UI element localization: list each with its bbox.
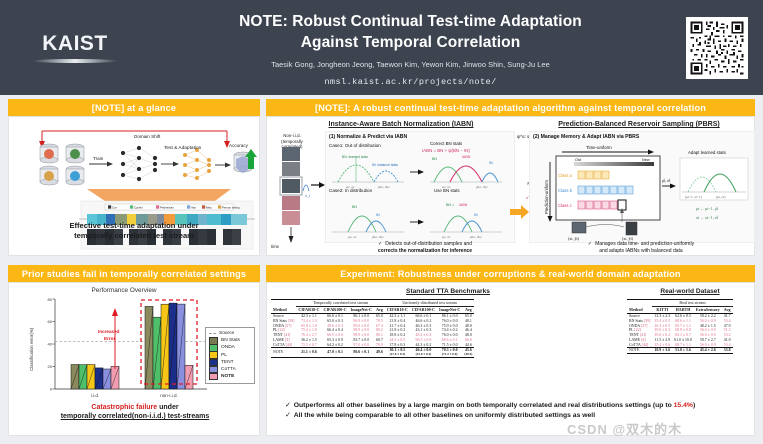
- ytick-80: 80: [48, 297, 53, 302]
- qr-code-icon[interactable]: [686, 17, 748, 79]
- svg-text:μc, σc: μc, σc: [346, 185, 355, 190]
- panel-glance: Domain Shift Train Test & Adaptation Acc…: [8, 116, 260, 256]
- ytick-20: 20: [48, 364, 53, 369]
- std-tta-table: Temporally correlated test stream Unifor…: [271, 299, 474, 358]
- table-cell: 21.1 ± 0.6: [296, 348, 321, 358]
- real-method-header: Method: [627, 306, 652, 313]
- glance-caption: Effective test-time adaptation under tem…: [9, 221, 259, 242]
- svg-text:μc, σc: μc, σc: [442, 185, 451, 190]
- table-cell: 62.6 ± 8.5: [672, 313, 694, 318]
- table-cell: 61.0 ± 10.0: [672, 337, 694, 342]
- banner-method: [NOTE]: A robust continual test-time ada…: [266, 99, 755, 116]
- table-cell: 26.3 ± 0.5: [652, 323, 672, 328]
- std-tta-table-wrap: Temporally correlated test stream Unifor…: [271, 299, 474, 358]
- table-cell: 46.4 ± 0.0(41.0 ± 0.2): [410, 348, 437, 358]
- row-method-name: BN Stats [39]: [271, 318, 296, 323]
- std-table-body: Source42.3 ± 1.166.6 ± 0.186.1 ± 0.065.0…: [271, 313, 474, 357]
- svg-text:Adapt learned stats: Adapt learned stats: [688, 150, 727, 155]
- std-col-7: Avg: [462, 306, 474, 313]
- table-cell: 69.7 ± 1.1: [672, 323, 694, 328]
- real-world-table: Real test stream Method KITTI HARTH Extr…: [627, 299, 733, 354]
- xtick-iid: i.i.d.: [91, 393, 99, 398]
- legend-label-onda: ONDA: [221, 345, 235, 350]
- experiment-check-1: ✓Outperforms all other baselines by a la…: [285, 401, 755, 411]
- experiment-check-2: ✓All the while being comparable to all o…: [285, 411, 755, 421]
- std-method-header: Method: [271, 306, 296, 313]
- real-group-header-row: Real test stream: [627, 300, 733, 307]
- kaist-logo: KAIST: [0, 32, 150, 63]
- prior-caption: Catastrophic failure under temporally co…: [9, 403, 261, 422]
- performance-overview-chart: 0 20 40 60 80 Classification error(%): [19, 293, 219, 403]
- banner-prior-label: Prior studies fail in temporally correla…: [22, 269, 246, 279]
- svg-text:IABN: IABN: [462, 155, 471, 159]
- table-row-note: NOTE21.1 ± 0.647.0 ± 0.180.6 ± 0.149.630…: [271, 348, 474, 358]
- svg-text:Old: Old: [575, 158, 581, 162]
- legend-car: Car: [112, 205, 117, 209]
- real-col-2: ExtraSensory: [694, 306, 722, 313]
- kaist-logo-swoosh: [32, 59, 118, 63]
- banner-prior: Prior studies fail in temporally correla…: [8, 265, 260, 282]
- std-col-5: CIFAR100-C: [410, 306, 437, 313]
- check1-text-a: Outperforms all other baselines by a lar…: [294, 402, 674, 409]
- iabn-distribution-plots: BN: learned stats IN: instance stats μc,…: [326, 150, 514, 242]
- real-col-header-row: Method KITTI HARTH ExtraSensory Avg: [627, 306, 733, 313]
- legend-cyclist: Cyclist: [134, 205, 143, 209]
- svg-text:IN: instance stats: IN: instance stats: [372, 163, 398, 167]
- legend-item-note: NOTE: [206, 373, 254, 380]
- svg-text:Class a: Class a: [558, 173, 573, 178]
- real-col-3: Avg: [722, 306, 733, 313]
- table-cell: 39.6 ± 0.2: [652, 333, 672, 338]
- pbrs-takeaway: ✓Manages data time- and prediction-unifo…: [529, 241, 753, 255]
- svg-text:IN: IN: [474, 213, 478, 217]
- real-table-title: Real-world Dataset: [629, 288, 751, 295]
- banner-glance-label: [NOTE] at a glance: [92, 103, 176, 113]
- table-row-note: NOTE10.9 ± 3.651.0 ± 5.645.4 ± 2.635.8: [627, 348, 733, 354]
- project-url: nmsl.kaist.ac.kr/projects/note/: [150, 77, 671, 87]
- glance-caption-line2: temporally correlated test stream: [9, 231, 259, 241]
- svg-text:Prediction-uniform: Prediction-uniform: [544, 180, 549, 214]
- svg-text:μ̂t,c, σ̂t,c: μ̂t,c, σ̂t,c: [476, 185, 488, 190]
- poster-root: KAIST NOTE: Robust Continual Test-time A…: [0, 0, 763, 444]
- iabn-step1: (1) Normalize & Predict via IABN: [329, 134, 407, 140]
- table-cell: 10.9 ± 3.6: [652, 348, 672, 354]
- std-group-temporal: Temporally correlated test stream: [296, 300, 384, 307]
- input-stream-thumbs: time x_t: [269, 147, 315, 251]
- legend-label-bn-stats: BN Stats: [221, 338, 240, 343]
- iabn-takeaway: ✓Detects out-of-distribution samples and…: [325, 241, 525, 255]
- svg-text:time: time: [271, 244, 280, 249]
- std-col-0: CIFAR10-C: [296, 306, 321, 313]
- legend-label-source: Source: [219, 331, 234, 336]
- legend-swatch-source: [209, 333, 216, 334]
- check1-highlight: 15.4%: [674, 402, 693, 409]
- row-method-name: NOTE: [627, 348, 652, 354]
- svg-text:μ̂t,c, σ̂t,c: μ̂t,c, σ̂t,c: [372, 235, 384, 240]
- table-cell: 68.8 ± 0.8: [672, 328, 694, 333]
- prior-caption-line1: Catastrophic failure under: [9, 403, 261, 412]
- svg-text:IN: IN: [489, 161, 493, 165]
- svg-text:Time-uniform: Time-uniform: [586, 145, 612, 150]
- pbrs-step2: (2) Manage Memory & Adapt IABN via PBRS: [533, 134, 639, 140]
- legend-misc: Misc: [206, 205, 212, 209]
- row-method-name: BN Stats [39]: [627, 318, 652, 323]
- ytick-0: 0: [50, 387, 53, 392]
- banner-experiment-label: Experiment: Robustness under corruptions…: [340, 269, 680, 279]
- std-col-6: ImageNet-C: [437, 306, 462, 313]
- table-cell: 84.1 ± 0.7: [672, 333, 694, 338]
- table-cell: 35.8: [722, 348, 733, 354]
- iabn-correct-bn-label: Correct BN stats: [430, 141, 462, 146]
- banner-method-label: [NOTE]: A robust continual test-time ada…: [315, 103, 706, 113]
- panel-experiment: Standard TTA Benchmarks Real-world Datas…: [266, 282, 755, 436]
- std-col-4: CIFAR10-C: [385, 306, 410, 313]
- ytick-40: 40: [48, 342, 53, 347]
- svg-text:σt ← σt−1, σ̂t: σt ← σt−1, σ̂t: [696, 215, 719, 221]
- table-cell: 70.3 ± 0.0(71.2 ± 0.0): [437, 348, 462, 358]
- svg-text:IN: IN: [376, 213, 380, 217]
- table-cell: 68.6 ± 1.1: [672, 318, 694, 323]
- ytick-60: 60: [48, 319, 53, 324]
- table-cell: 49.6: [374, 348, 385, 358]
- table-cell: 11.5 ± 2.9: [652, 337, 672, 342]
- table-cell: 51.0 ± 5.6: [672, 348, 694, 354]
- real-table-wrap: Real test stream Method KITTI HARTH Extr…: [627, 299, 733, 354]
- table-cell: 39.0 ± 0.3: [652, 328, 672, 333]
- svg-text:μt ← μt−1, μ̂t: μt ← μt−1, μ̂t: [696, 206, 719, 212]
- std-col-3: Avg: [374, 306, 385, 313]
- iabn-check-line2: corrects the normalization for inference: [325, 248, 525, 255]
- author-list: Taesik Gong, Jongheon Jeong, Taewon Kim,…: [150, 60, 671, 69]
- prior-caption-line2: temporally correlated(non-i.i.d.) test-s…: [9, 412, 261, 421]
- pbrs-check-line2: and adapts IABNs with balanced data: [529, 248, 753, 255]
- iabn-box: (1) Normalize & Predict via IABN Case1: …: [325, 131, 515, 243]
- real-col-0: KITTI: [652, 306, 672, 313]
- chart-legend: Source BN Stats ONDA PL TENT CoTTA: [205, 327, 255, 384]
- chart-annotation-line2: Error: [104, 336, 115, 341]
- chart-annotation-line1: Increased: [98, 329, 120, 334]
- table-cell: 80.6 ± 0.1: [349, 348, 374, 358]
- kaist-logo-text: KAIST: [42, 32, 108, 56]
- legend-van: Van: [191, 205, 196, 209]
- svg-text:μ̂t,c, σ̂t,c: μ̂t,c, σ̂t,c: [470, 235, 482, 240]
- svg-text:BN: BN: [352, 205, 357, 209]
- qr-code-wrap: [671, 17, 763, 79]
- experiment-takeaways: ✓Outperforms all other baselines by a la…: [285, 401, 755, 421]
- real-col-1: HARTH: [672, 306, 694, 313]
- xtick-noniid: non-i.i.d.: [160, 393, 178, 398]
- label-accuracy: Accuracy: [229, 143, 249, 148]
- svg-text:μ̂t, σ̂t: μ̂t, σ̂t: [662, 178, 671, 184]
- prior-caption-red: Catastrophic failure: [91, 404, 157, 411]
- table-cell: 45.4 ± 2.6: [694, 348, 722, 354]
- banner-experiment: Experiment: Robustness under corruptions…: [266, 265, 755, 282]
- panel-method: Instance-Aware Batch Normalization (IABN…: [266, 116, 755, 256]
- legend-pedestrian: Pedestrian: [160, 205, 174, 209]
- real-group-header: Real test stream: [652, 300, 732, 307]
- iabn-case1: Case1: Out of distribution: [329, 143, 381, 148]
- svg-text:μc, σc: μc, σc: [348, 235, 357, 240]
- legend-label-pl: PL: [221, 353, 227, 358]
- poster-title-line-1: NOTE: Robust Continual Test-time Adaptat…: [150, 12, 671, 32]
- pbrs-box: (2) Manage Memory & Adapt IABN via PBRS …: [529, 131, 755, 243]
- watermark: CSDN @双木的木: [567, 419, 682, 438]
- title-block: NOTE: Robust Continual Test-time Adaptat…: [150, 8, 671, 87]
- pbrs-diagram: Time-uniform Prediction-uniform Old New …: [530, 142, 754, 242]
- svg-text:BN: learned stats: BN: learned stats: [342, 155, 368, 159]
- legend-label-tent: TENT: [221, 360, 234, 365]
- std-table-title: Standard TTA Benchmarks: [273, 288, 623, 295]
- pbrs-check-line1: ✓Manages data time- and prediction-unifo…: [529, 241, 753, 248]
- check2-text: All the while being comparable to all ot…: [294, 412, 595, 419]
- svg-text:μc, σc: μc, σc: [442, 235, 451, 240]
- row-method-name: NOTE: [271, 348, 296, 358]
- std-col-1: CIFAR100-C: [321, 306, 348, 313]
- label-domain-shift: Domain Shift: [134, 134, 161, 139]
- check1-text-b: ): [693, 402, 695, 409]
- label-train: Train: [93, 156, 104, 161]
- glance-caption-line1: Effective test-time adaptation under: [9, 221, 259, 231]
- chart-ylabel: Classification error(%): [29, 327, 34, 371]
- svg-text:x_t: x_t: [305, 193, 311, 198]
- panel-prior: Performance Overview 0 20 40 60 80 Class…: [8, 282, 260, 436]
- std-group-header-row: Temporally correlated test stream Unifor…: [271, 300, 474, 307]
- legend-label-note: NOTE: [221, 374, 234, 379]
- svg-text:BN =: BN =: [446, 203, 454, 207]
- legend-label-cotta: CoTTA: [221, 367, 236, 372]
- svg-text:μ̂t,c, σ̂t,c: μ̂t,c, σ̂t,c: [378, 185, 390, 190]
- poster-header: KAIST NOTE: Robust Continual Test-time A…: [0, 0, 763, 95]
- svg-text:IABN: IABN: [459, 203, 468, 207]
- table-cell: 45.6(48.4): [462, 348, 474, 358]
- legend-person-sitting: Person sitting: [222, 205, 240, 209]
- prior-caption-rest: under: [157, 404, 178, 411]
- arrow-to-pbrs: [510, 205, 530, 219]
- svg-text:BN: BN: [432, 157, 437, 161]
- table-cell: 35.4 ± 0.5: [652, 318, 672, 323]
- poster-title-line-2: Against Temporal Correlation: [150, 33, 671, 53]
- iabn-section-title: Instance-Aware Batch Normalization (IABN…: [281, 121, 521, 128]
- label-test-adapt: Test & Adaptation: [164, 145, 202, 151]
- std-col-2: ImageNet-C: [349, 306, 374, 313]
- svg-text:Class c: Class c: [558, 203, 572, 208]
- banner-glance: [NOTE] at a glance: [8, 99, 260, 116]
- svg-text:New: New: [642, 158, 650, 162]
- table-cell: 47.0 ± 0.1: [321, 348, 348, 358]
- pbrs-section-title: Prediction-Balanced Reservoir Sampling (…: [525, 121, 753, 128]
- svg-text:Class b: Class b: [558, 188, 573, 193]
- std-group-uniform: Uniformly distributed test stream: [385, 300, 475, 307]
- table-cell: 30.1 ± 0.5(17.6 ± 0.3): [385, 348, 410, 358]
- std-col-header-row: Method CIFAR10-C CIFAR100-C ImageNet-C A…: [271, 306, 474, 313]
- real-table-body: Source12.3 ± 2.362.6 ± 8.550.2 ± 2.241.7…: [627, 313, 733, 353]
- iabn-check-line1: ✓Detects out-of-distribution samples and: [325, 241, 525, 248]
- table-cell: 12.3 ± 2.3: [652, 313, 672, 318]
- legend-swatch-note: [209, 373, 218, 381]
